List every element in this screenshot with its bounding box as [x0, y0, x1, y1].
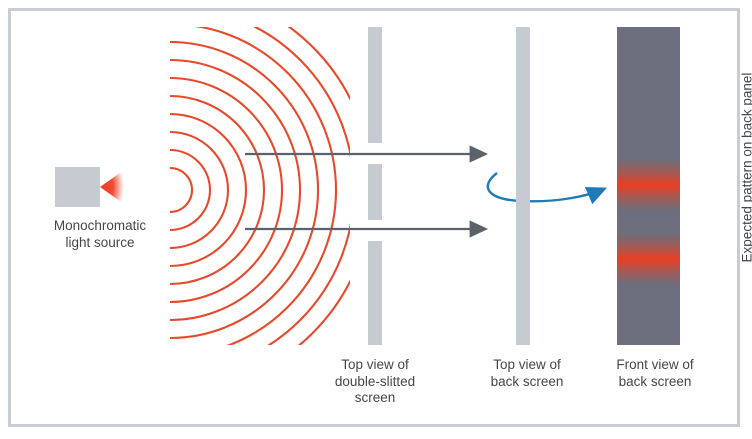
- expected-pattern-label: Expected pattern on back panel: [740, 38, 752, 298]
- slit-screen-segment-bottom: [368, 241, 382, 345]
- interference-band-upper: [617, 159, 680, 211]
- back-panel-front-view: [617, 27, 680, 345]
- light-source-label: Monochromatic light source: [20, 218, 180, 251]
- double-slit-screen-label: Top view of double-slitted screen: [305, 357, 445, 407]
- light-beam-icon: [100, 170, 124, 204]
- back-screen-top-view-label: Top view of back screen: [462, 357, 592, 390]
- back-screen-front-view-label: Front view of back screen: [592, 357, 718, 390]
- curved-pointer-arrow: [488, 173, 604, 201]
- interference-band-lower: [617, 233, 680, 285]
- slit-screen-segment-top: [368, 27, 382, 143]
- slit-screen-segment-middle: [368, 164, 382, 220]
- light-source-box: [55, 167, 100, 207]
- back-screen-bar: [516, 27, 530, 345]
- figure-stage: Monochromatic light source Top view of d…: [0, 0, 752, 439]
- double-slit-figure: Monochromatic light source Top view of d…: [0, 0, 752, 439]
